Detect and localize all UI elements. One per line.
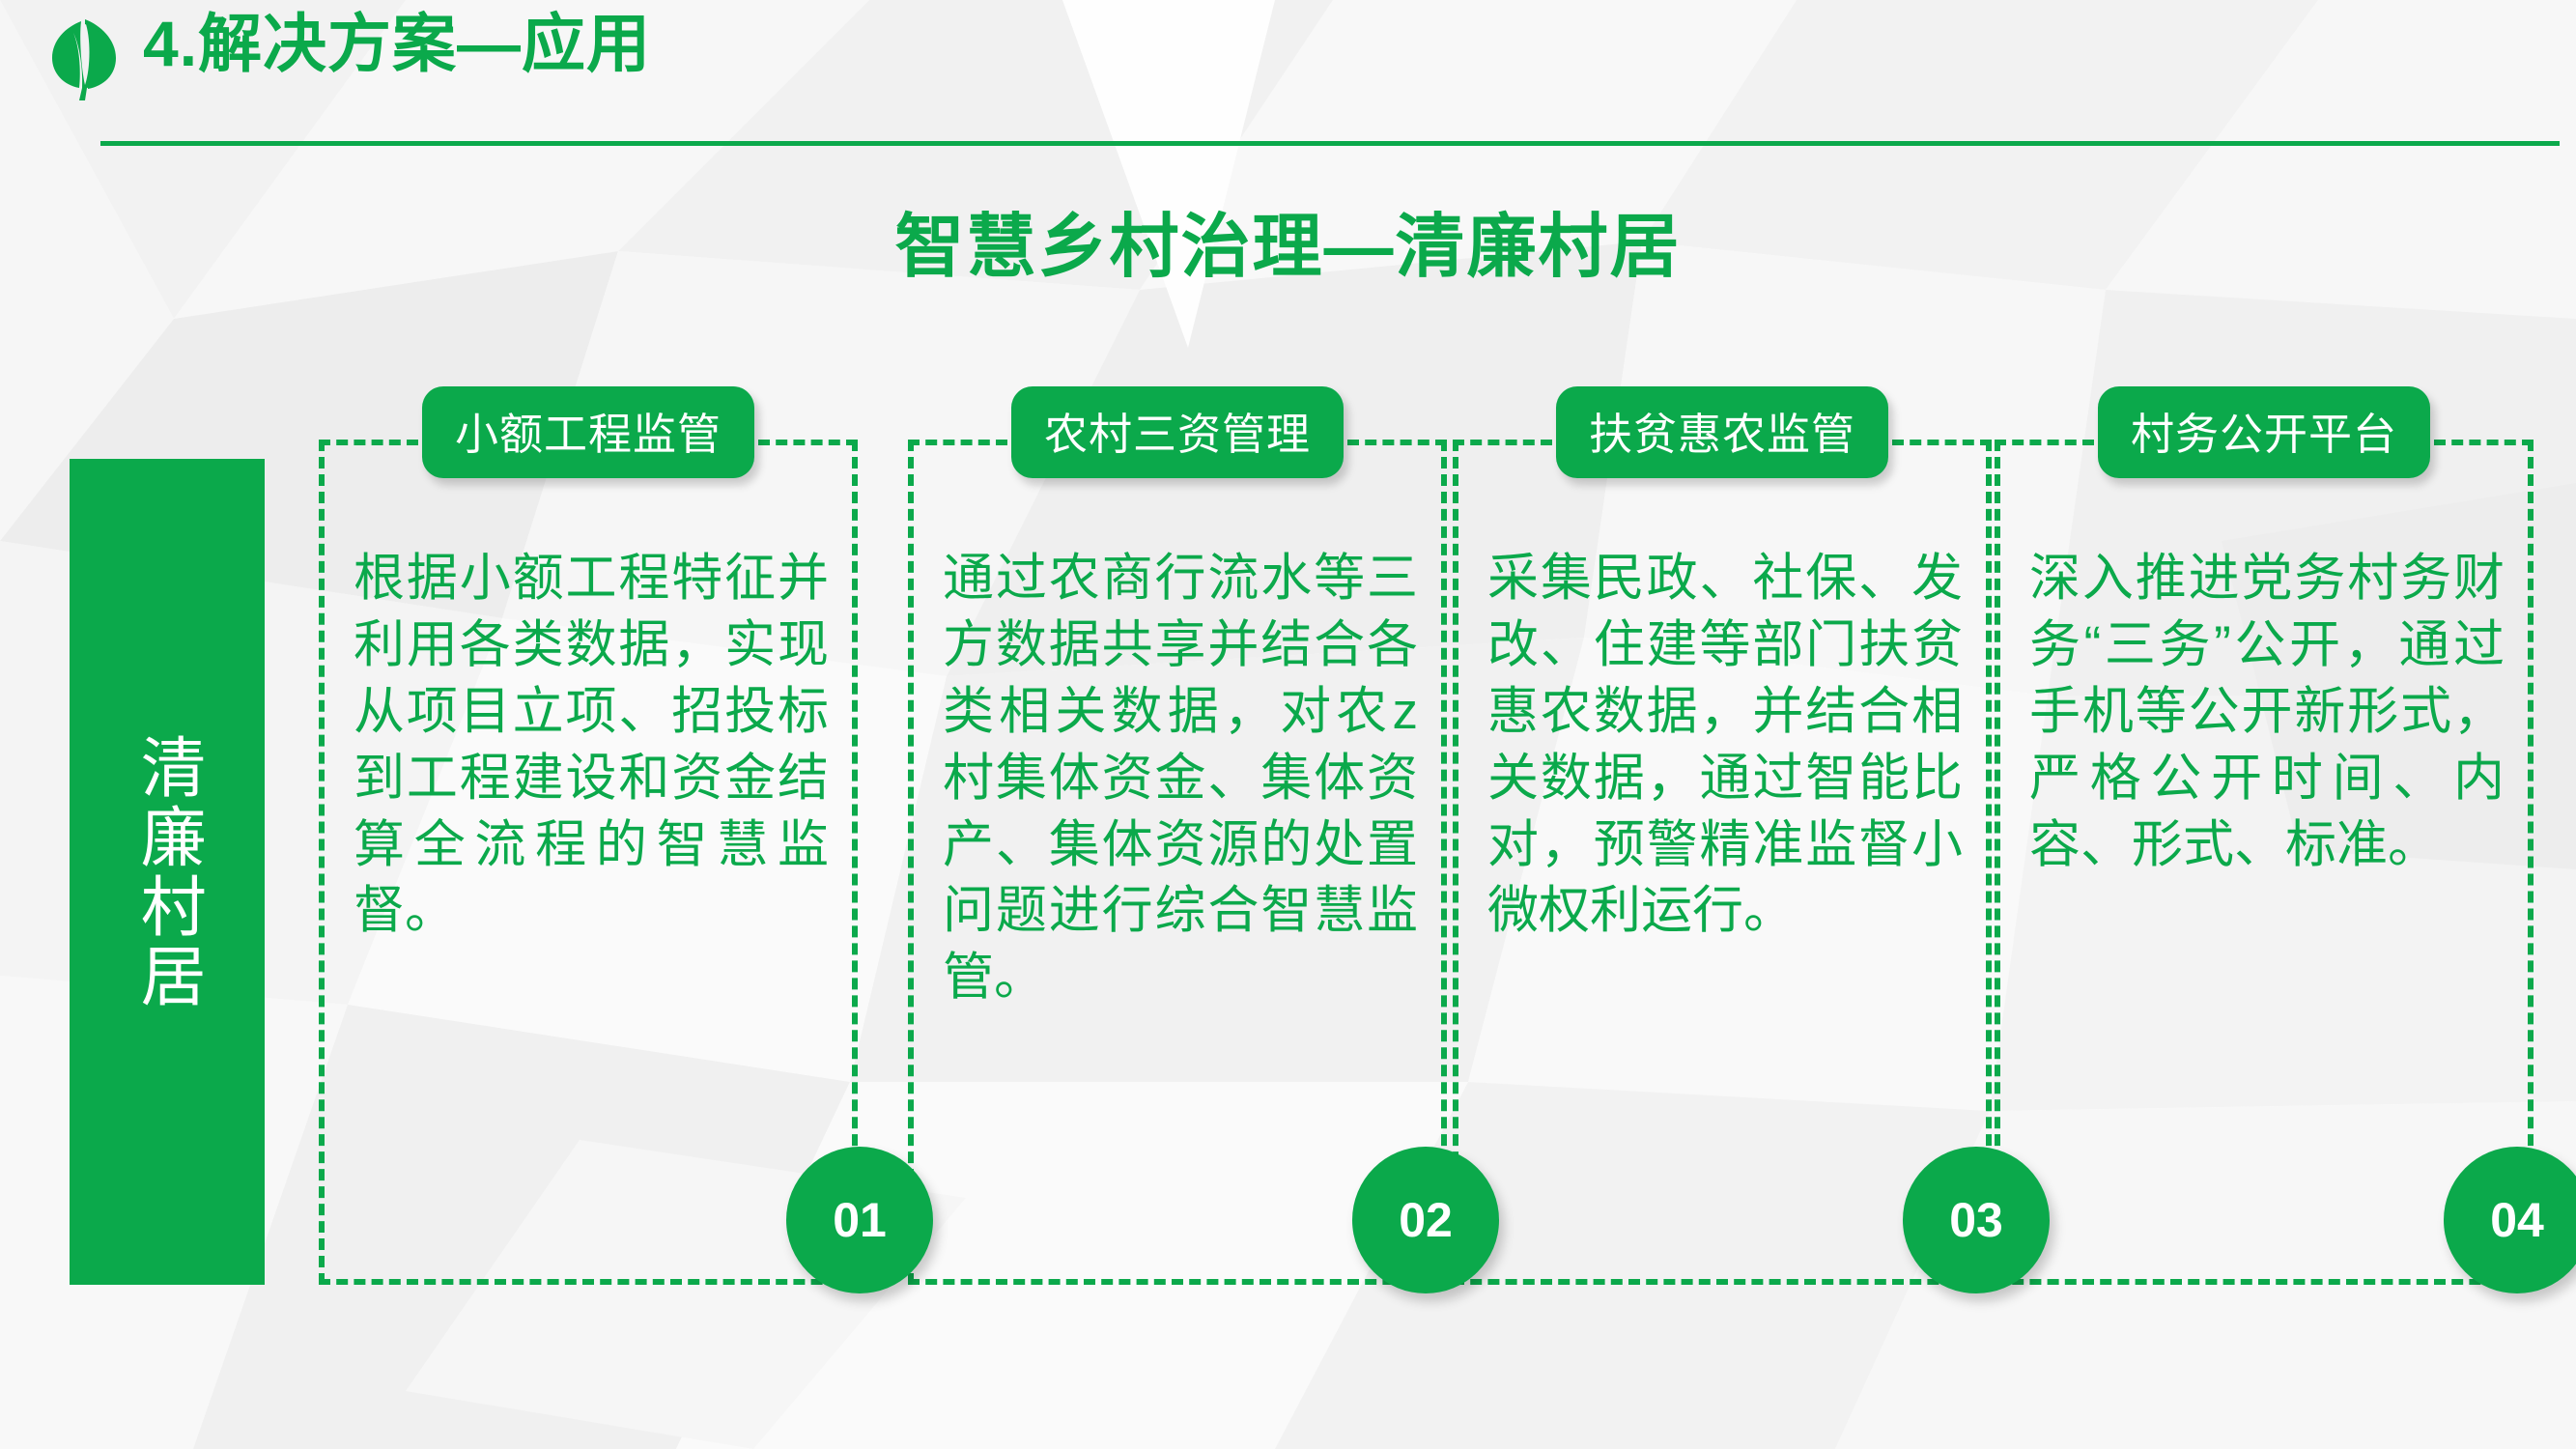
card-3-body: 采集民政、社保、发改、住建等部门扶贫惠农数据，并结合相关数据，通过智能比对，预警… (1487, 546, 1963, 945)
card-4-body: 深入推进党务村务财务“三务”公开，通过手机等公开新形式，严格公开时间、内容、形式… (2029, 546, 2505, 878)
card-3[interactable]: 扶贫惠农监管 采集民政、社保、发改、住建等部门扶贫惠农数据，并结合相关数据，通过… (1453, 440, 1992, 1285)
card-1-badge[interactable]: 小额工程监管 (422, 386, 754, 478)
header-divider (100, 141, 2560, 146)
card-2-badge[interactable]: 农村三资管理 (1011, 386, 1344, 478)
card-2-number: 02 (1352, 1147, 1499, 1293)
page-header: 4.解决方案—应用 (0, 0, 2576, 155)
card-1-body: 根据小额工程特征并利用各类数据，实现从项目立项、招投标到工程建设和资金结算全流程… (354, 546, 829, 945)
section-subtitle: 智慧乡村治理—清廉村居 (0, 189, 2576, 291)
card-2[interactable]: 农村三资管理 通过农商行流水等三方数据共享并结合各类相关数据，对农z村集体资金、… (908, 440, 1447, 1285)
left-panel-label: 清廉村居 (130, 733, 204, 1011)
page-title: 4.解决方案—应用 (143, 12, 651, 75)
card-1-number: 01 (786, 1147, 933, 1293)
leaf-icon (37, 12, 133, 100)
card-1[interactable]: 小额工程监管 根据小额工程特征并利用各类数据，实现从项目立项、招投标到工程建设和… (319, 440, 858, 1285)
card-4[interactable]: 村务公开平台 深入推进党务村务财务“三务”公开，通过手机等公开新形式，严格公开时… (1995, 440, 2534, 1285)
card-2-body: 通过农商行流水等三方数据共享并结合各类相关数据，对农z村集体资金、集体资产、集体… (943, 546, 1418, 1011)
card-4-badge[interactable]: 村务公开平台 (2098, 386, 2430, 478)
card-3-badge[interactable]: 扶贫惠农监管 (1556, 386, 1888, 478)
card-3-number: 03 (1903, 1147, 2050, 1293)
left-vertical-panel: 清廉村居 (70, 459, 265, 1285)
